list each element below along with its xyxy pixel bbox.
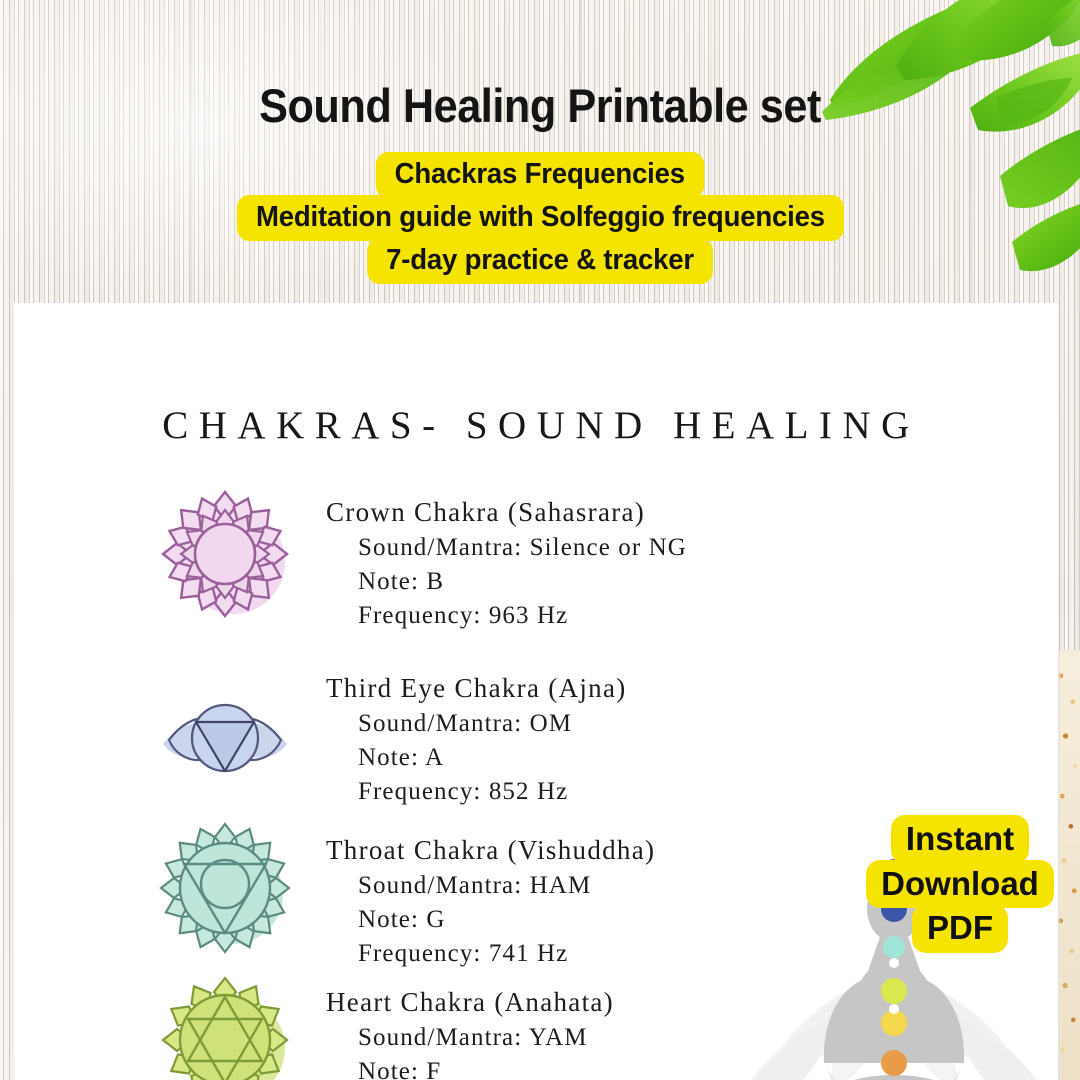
chakra-name: Third Eye Chakra (Ajna) (326, 673, 627, 704)
sheet-title: CHAKRAS- SOUND HEALING (14, 403, 1058, 448)
chakra-note: Note: G (358, 906, 655, 934)
listing-title: Sound Healing Printable set (43, 78, 1037, 133)
chakra-note: Note: F (358, 1058, 614, 1080)
heart-lotus-icon (152, 967, 298, 1080)
chakra-row: Third Eye Chakra (Ajna) Sound/Mantra: OM… (14, 665, 1058, 815)
highlight-badge-2: Meditation guide with Solfeggio frequenc… (237, 195, 844, 241)
download-badge-line-2: Download (866, 860, 1054, 909)
download-badge-line-3: PDF (912, 904, 1008, 953)
download-badge-line-1: Instant (891, 815, 1029, 864)
chakra-frequency: Frequency: 963 Hz (358, 602, 687, 630)
chakra-sound: Sound/Mantra: Silence or NG (358, 534, 687, 562)
chakra-note: Note: A (358, 744, 627, 772)
chakra-frequency: Frequency: 741 Hz (358, 940, 655, 968)
chakra-note: Note: B (358, 568, 687, 596)
chakra-info: Heart Chakra (Anahata) Sound/Mantra: YAM… (326, 967, 614, 1080)
third-eye-petals-icon (152, 679, 298, 825)
chakra-info: Throat Chakra (Vishuddha) Sound/Mantra: … (326, 815, 655, 968)
highlight-badge-3: 7-day practice & tracker (367, 238, 713, 284)
chakra-name: Throat Chakra (Vishuddha) (326, 835, 655, 866)
crown-lotus-icon (152, 481, 298, 627)
chakra-sound: Sound/Mantra: OM (358, 710, 627, 738)
chakra-list: Crown Chakra (Sahasrara) Sound/Mantra: S… (14, 479, 1058, 1080)
chakra-sound: Sound/Mantra: HAM (358, 872, 655, 900)
chakra-name: Heart Chakra (Anahata) (326, 987, 614, 1018)
chakra-row: Crown Chakra (Sahasrara) Sound/Mantra: S… (14, 479, 1058, 665)
chakra-info: Crown Chakra (Sahasrara) Sound/Mantra: S… (326, 479, 687, 630)
chakra-info: Third Eye Chakra (Ajna) Sound/Mantra: OM… (326, 665, 627, 806)
chakra-name: Crown Chakra (Sahasrara) (326, 497, 687, 528)
chakra-sound: Sound/Mantra: YAM (358, 1024, 614, 1052)
chakra-row: Heart Chakra (Anahata) Sound/Mantra: YAM… (14, 967, 1058, 1080)
seed-texture-strip (1056, 650, 1080, 1080)
throat-lotus-icon (152, 815, 298, 961)
highlight-badge-1: Chackras Frequencies (376, 152, 704, 198)
instant-download-badge: Instant Download PDF (860, 815, 1058, 953)
chakra-frequency: Frequency: 852 Hz (358, 778, 627, 806)
highlight-badges: Chackras Frequencies Meditation guide wi… (0, 152, 1080, 284)
printable-sheet: CHAKRAS- SOUND HEALING (14, 303, 1058, 1080)
